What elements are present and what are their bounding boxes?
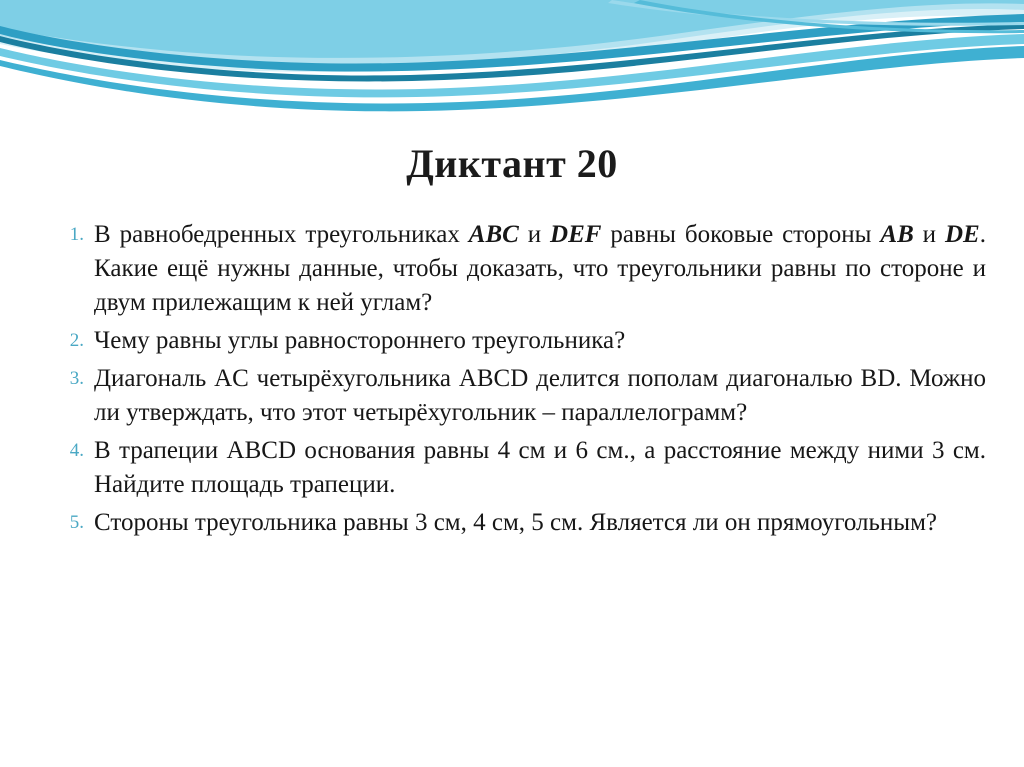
list-item-text: Стороны треугольника равны 3 см, 4 см, 5… — [94, 506, 986, 540]
question-list: 1. В равнобедренных треугольниках ABC и … — [48, 218, 986, 544]
list-item: 5. Стороны треугольника равны 3 см, 4 см… — [48, 506, 986, 540]
list-item-text: Чему равны углы равностороннего треуголь… — [94, 324, 986, 358]
page-title: Диктант 20 — [0, 140, 1024, 187]
wave-ribbon-decoration — [0, 0, 1024, 120]
list-item: 1. В равнобедренных треугольниках ABC и … — [48, 218, 986, 320]
list-item: 4. В трапеции ABCD основания равны 4 см … — [48, 434, 986, 502]
list-item: 2. Чему равны углы равностороннего треуг… — [48, 324, 986, 358]
list-item-number: 4. — [48, 434, 94, 468]
list-item: 3. Диагональ AC четырёхугольника ABCD де… — [48, 362, 986, 430]
list-item-number: 1. — [48, 218, 94, 252]
slide: Диктант 20 1. В равнобедренных треугольн… — [0, 0, 1024, 767]
list-item-text: В равнобедренных треугольниках ABC и DEF… — [94, 218, 986, 320]
list-item-text: В трапеции ABCD основания равны 4 см и 6… — [94, 434, 986, 502]
list-item-number: 5. — [48, 506, 94, 540]
list-item-number: 3. — [48, 362, 94, 396]
list-item-text: Диагональ AC четырёхугольника ABCD делит… — [94, 362, 986, 430]
list-item-number: 2. — [48, 324, 94, 358]
